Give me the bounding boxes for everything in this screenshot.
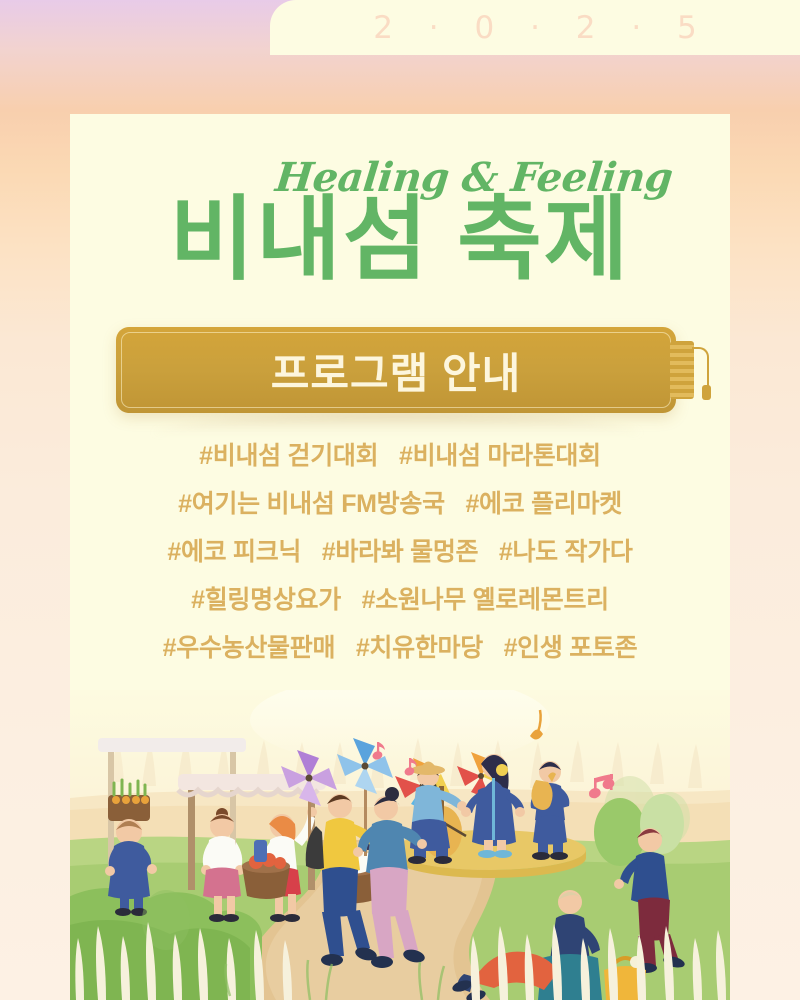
tassel-fringe-icon	[670, 341, 694, 399]
festival-illustration	[70, 690, 730, 1000]
program-tag: #소원나무 옐로레몬트리	[362, 586, 609, 614]
program-banner: 프로그램 안내	[116, 327, 676, 413]
festival-poster: 2 · 0 · 2 · 5 Healing & Feeling 비내섬 축제 프…	[0, 0, 800, 1000]
tassel-icon	[670, 341, 716, 403]
program-tag: #에코 피크닉	[167, 538, 301, 566]
tassel-bead-icon	[702, 385, 711, 400]
program-tag: #치유한마당	[356, 634, 483, 662]
program-row-4: #힐링명상요가 #소원나무 옐로레몬트리	[70, 576, 730, 624]
program-tag: #나도 작가다	[499, 538, 633, 566]
program-banner-wrap: 프로그램 안내	[70, 327, 730, 423]
year-text: 2 · 0 · 2 · 5	[360, 10, 710, 46]
page-title: 비내섬 축제	[70, 194, 730, 286]
program-row-1: #비내섬 걷기대회 #비내섬 마라톤대회	[70, 432, 730, 480]
program-tag: #바라봐 물멍존	[322, 538, 478, 566]
year-band: 2 · 0 · 2 · 5	[270, 0, 800, 55]
program-row-5: #우수농산물판매 #치유한마당 #인생 포토존	[70, 624, 730, 672]
program-tag: #우수농산물판매	[163, 634, 336, 662]
program-tag: #비내섬 마라톤대회	[399, 442, 601, 470]
program-tag: #에코 플리마켓	[465, 490, 621, 518]
program-tag: #여기는 비내섬 FM방송국	[178, 490, 445, 518]
program-tag: #힐링명상요가	[191, 586, 341, 614]
program-row-3: #에코 피크닉 #바라봐 물멍존 #나도 작가다	[70, 528, 730, 576]
program-tag: #비내섬 걷기대회	[199, 442, 378, 470]
program-row-2: #여기는 비내섬 FM방송국 #에코 플리마켓	[70, 480, 730, 528]
banner-label: 프로그램 안내	[271, 340, 522, 401]
program-tag: #인생 포토존	[504, 634, 638, 662]
poster-card: Healing & Feeling 비내섬 축제 프로그램 안내 #비내섬 걷기…	[70, 114, 730, 1000]
program-list: #비내섬 걷기대회 #비내섬 마라톤대회 #여기는 비내섬 FM방송국 #에코 …	[70, 432, 730, 672]
